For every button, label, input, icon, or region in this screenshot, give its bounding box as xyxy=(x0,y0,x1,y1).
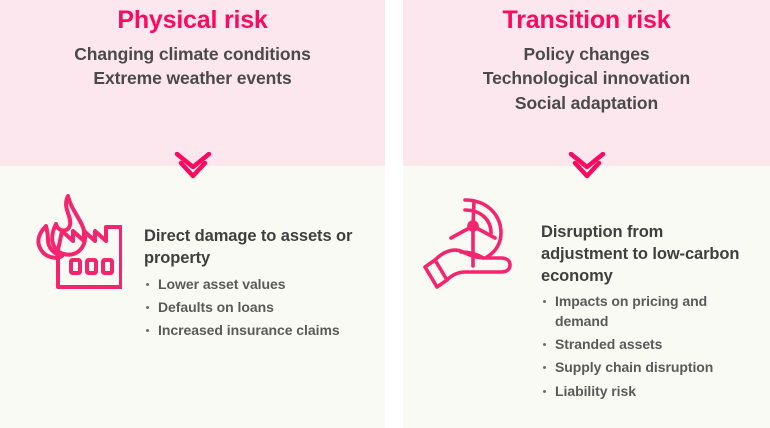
driver-item: Technological innovation xyxy=(413,66,760,91)
physical-risk-title: Physical risk xyxy=(10,6,375,36)
driver-item: Social adaptation xyxy=(413,91,760,116)
transition-risk-impact-text: Disruption from adjustment to low-carbon… xyxy=(541,166,770,405)
transition-risk-column: Transition risk Policy changes Technolog… xyxy=(403,0,770,428)
impact-bullet: Stranded assets xyxy=(541,335,755,354)
transition-risk-impact-bullets: Impacts on pricing and demand Stranded a… xyxy=(541,292,758,401)
impact-bullet: Defaults on loans xyxy=(144,298,358,317)
physical-risk-column: Physical risk Changing climate condition… xyxy=(0,0,385,428)
physical-risk-driver-card: Physical risk Changing climate condition… xyxy=(0,0,385,166)
transition-risk-title: Transition risk xyxy=(413,6,760,36)
driver-item: Extreme weather events xyxy=(10,66,375,91)
impact-bullet: Increased insurance claims xyxy=(144,321,358,340)
physical-risk-driver-list: Changing climate conditions Extreme weat… xyxy=(10,42,375,92)
factory-on-fire-icon xyxy=(0,166,144,292)
physical-risk-impact-text: Direct damage to assets or property Lowe… xyxy=(144,166,385,344)
driver-item: Changing climate conditions xyxy=(10,42,375,67)
impact-bullet: Impacts on pricing and demand xyxy=(541,292,755,331)
impact-heading: Direct damage to assets or property xyxy=(144,226,359,270)
transition-risk-impact-card: Disruption from adjustment to low-carbon… xyxy=(403,166,770,428)
impact-heading: Disruption from adjustment to low-carbon… xyxy=(541,222,741,287)
impact-bullet: Supply chain disruption xyxy=(541,358,755,377)
climate-risk-infographic: Physical risk Changing climate condition… xyxy=(0,0,770,428)
impact-bullet: Liability risk xyxy=(541,382,755,401)
hand-holding-wind-turbine-icon xyxy=(403,166,541,292)
transition-risk-driver-list: Policy changes Technological innovation … xyxy=(413,42,760,117)
driver-item: Policy changes xyxy=(413,42,760,67)
transition-risk-driver-card: Transition risk Policy changes Technolog… xyxy=(403,0,770,166)
physical-risk-impact-bullets: Lower asset values Defaults on loans Inc… xyxy=(144,275,373,341)
impact-bullet: Lower asset values xyxy=(144,275,358,294)
physical-risk-impact-card: Direct damage to assets or property Lowe… xyxy=(0,166,385,428)
